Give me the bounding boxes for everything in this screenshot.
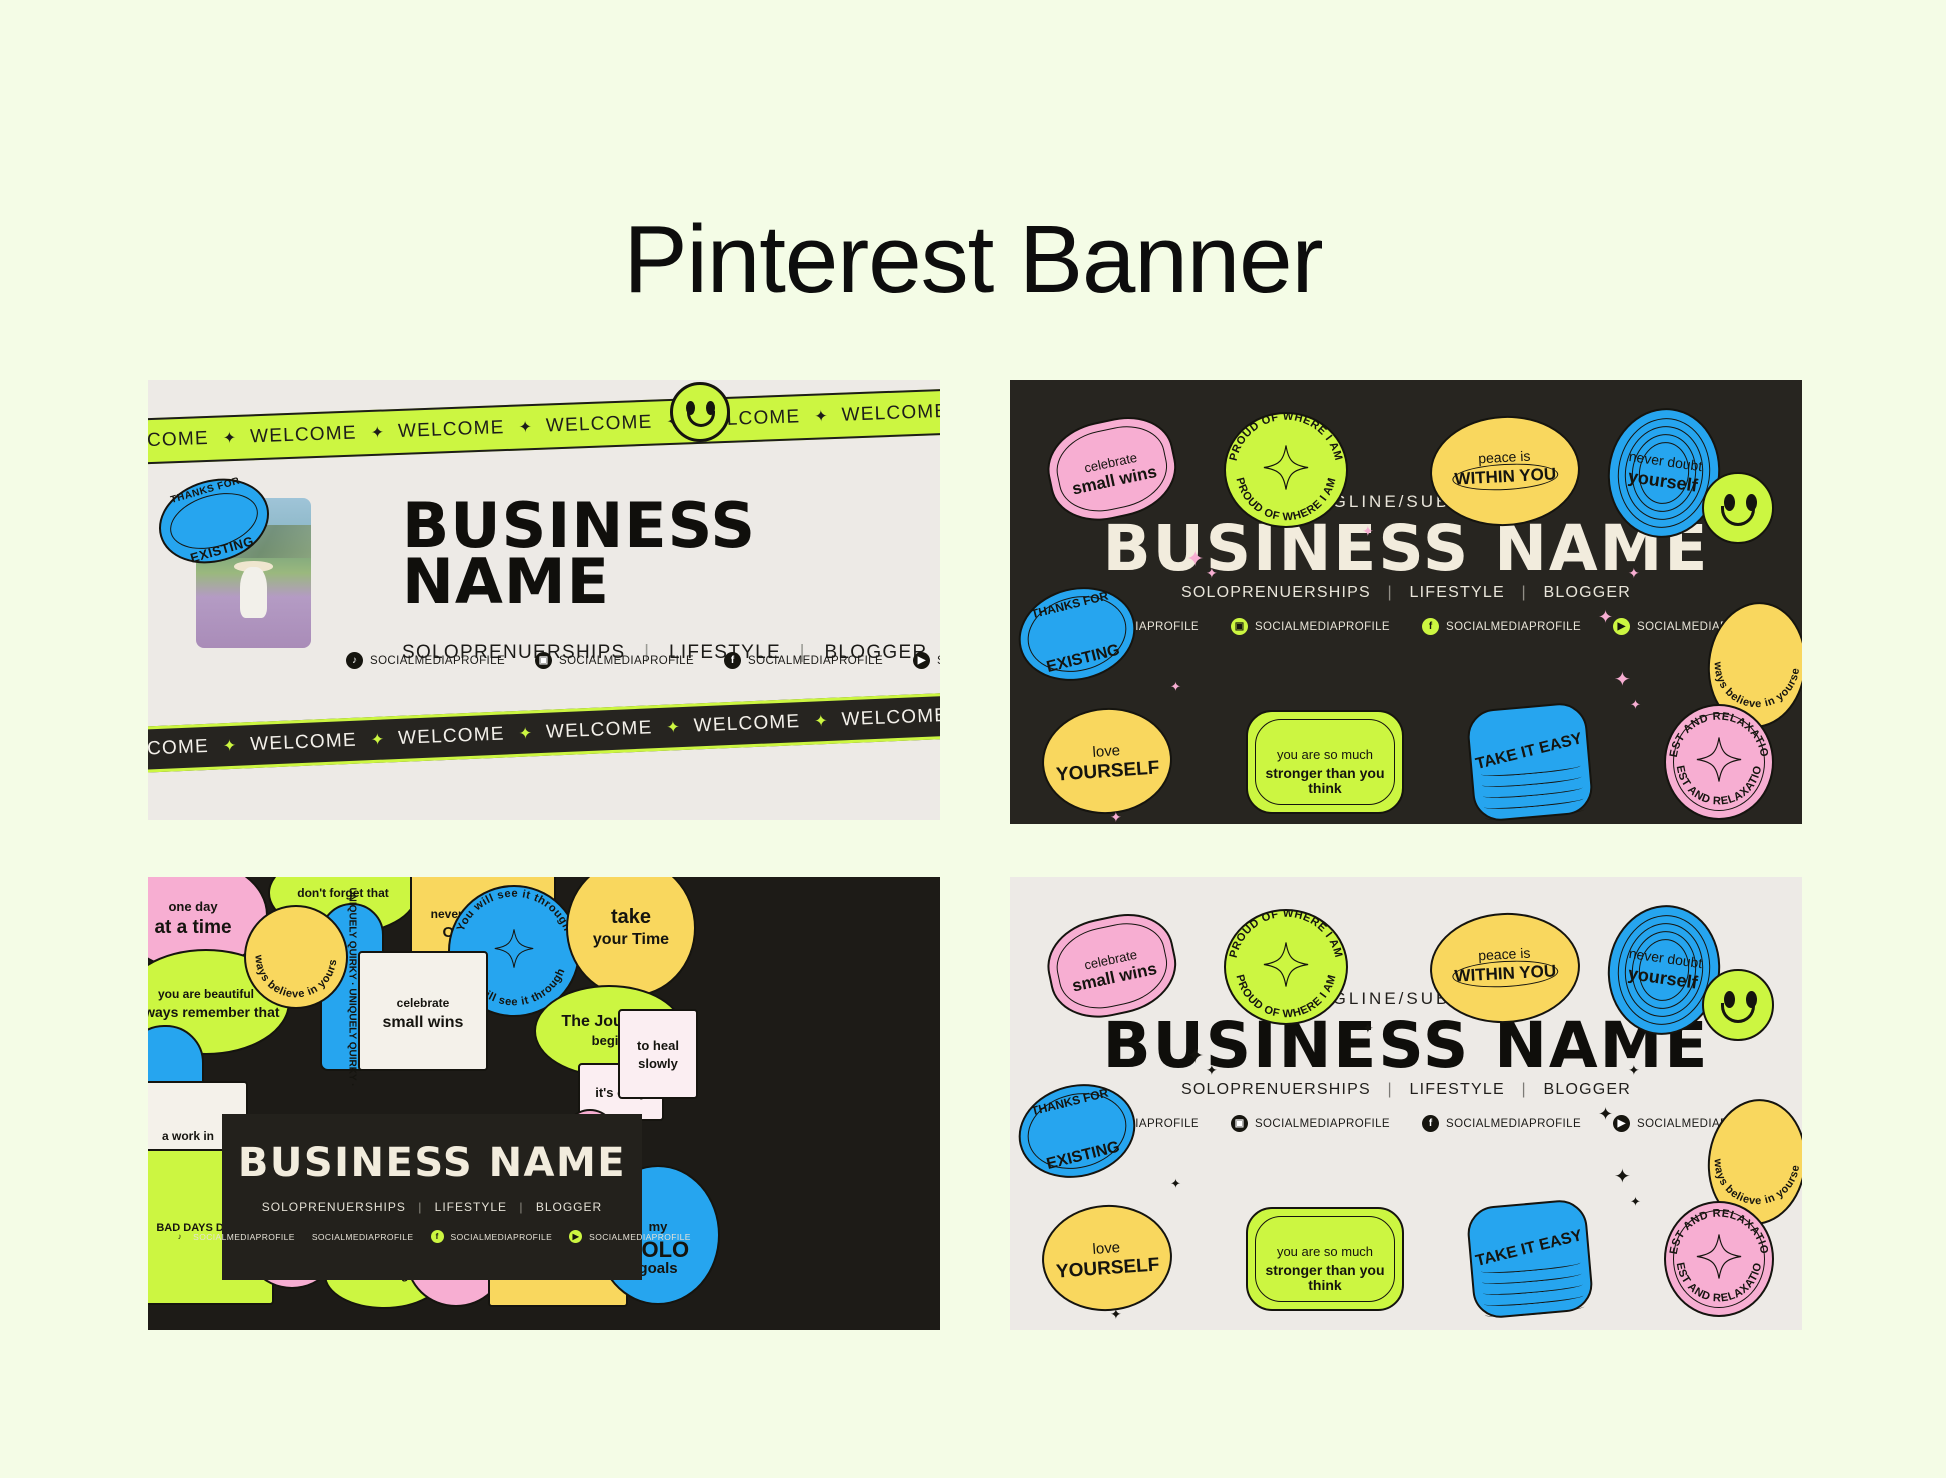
ribbon-word: WELCOME [679, 711, 814, 739]
sparkle-icon: ✦ [1362, 1021, 1374, 1035]
ribbon-word: WELCOME [532, 411, 667, 438]
collage-text-1: take [574, 906, 688, 928]
social-label: SOCIALMEDIAPROFILE [1255, 1118, 1390, 1130]
sparkle-icon: ✦ [814, 406, 828, 426]
tag-0: SOLOPRENUERSHIPS [262, 1200, 406, 1214]
ribbon-word: WELCOME [148, 427, 223, 454]
business-name-line-2: NAME [402, 554, 832, 610]
smiley-face-icon [670, 382, 730, 442]
facebook-icon: f [1422, 618, 1439, 635]
social-label: SOCIALMEDIAPROFILE [937, 655, 940, 667]
dark-sticker-banner[interactable]: TAGLINE/SUBTEXT BUSINESS NAME SOLOPRENUE… [1010, 380, 1802, 824]
business-name: BUSINESS NAME [222, 1140, 642, 1186]
tag-separator: | [1377, 584, 1404, 601]
social-links-row: ♪ SOCIALMEDIAPROFILE ▣ SOCIALMEDIAPROFIL… [346, 652, 940, 669]
sticker-love-yourself: loveYOURSELF [1038, 1201, 1175, 1316]
tag-list: SOLOPRENUERSHIPS | LIFESTYLE | BLOGGER [1010, 584, 1802, 602]
social-label: SOCIALMEDIAPROFILE [193, 1232, 295, 1242]
tag-1: LIFESTYLE [1410, 1081, 1505, 1098]
collage-text-1: celebrate [366, 997, 480, 1010]
tag-0: SOLOPRENUERSHIPS [1181, 1081, 1371, 1098]
business-name-card: BUSINESS NAME SOLOPRENUERSHIPS | LIFESTY… [222, 1114, 642, 1280]
youtube-icon: ▶ [1613, 1115, 1630, 1132]
social-link-facebook[interactable]: f SOCIALMEDIAPROFILE [1422, 618, 1581, 635]
welcome-ribbon-top: WELCOME✦WELCOME✦WELCOME✦WELCOME✦WELCOME✦… [148, 384, 940, 467]
social-links-row: ♪ SOCIALMEDIAPROFILE SOCIALMEDIAPROFILE … [222, 1230, 642, 1243]
sparkle-icon: ✦ [370, 730, 384, 751]
facebook-icon: f [724, 652, 741, 669]
tag-separator: | [511, 1200, 531, 1214]
sparkle-icon: ✦ [1614, 1167, 1631, 1187]
tag-list: SOLOPRENUERSHIPS | LIFESTYLE | BLOGGER [1010, 1081, 1802, 1099]
youtube-icon: ▶ [913, 652, 930, 669]
sparkle-icon: ✦ [1206, 566, 1218, 580]
collage-sticker-celebrate-small-wins-collage: celebratesmall wins [358, 951, 488, 1071]
sparkle-icon: ✦ [1170, 680, 1181, 693]
sparkle-icon: ✦ [1362, 524, 1374, 538]
business-name: BUSINESS NAME [402, 498, 832, 610]
social-label: SOCIALMEDIAPROFILE [589, 1232, 691, 1242]
social-link-instagram[interactable]: ▣ SOCIALMEDIAPROFILE [535, 652, 694, 669]
sparkle-icon: ✦ [1628, 1063, 1640, 1077]
youtube-icon: ▶ [569, 1230, 582, 1243]
sparkle-icon: ✦ [518, 723, 532, 744]
collage-text-1: one day [148, 900, 260, 914]
social-label: SOCIALMEDIAPROFILE [748, 655, 883, 667]
sticker-proud-of-where-i-am: PROUD OF WHERE I AMPROUD OF WHERE I AM [1224, 909, 1348, 1025]
tiktok-icon: ♪ [173, 1230, 186, 1243]
sticker-collage-banner[interactable]: one dayat a timedon't forget thatnever b… [148, 877, 940, 1330]
sticker-text-0: you are so much [1248, 1245, 1402, 1259]
sparkle-icon: ✦ [1206, 1063, 1218, 1077]
tag-0: SOLOPRENUERSHIPS [1181, 584, 1371, 601]
collage-text-2: at a time [148, 918, 262, 939]
light-sticker-banner[interactable]: TAGLINE/SUBTEXT BUSINESS NAME SOLOPRENUE… [1010, 877, 1802, 1330]
social-label: SOCIALMEDIAPROFILE [559, 655, 694, 667]
tiktok-icon: ♪ [346, 652, 363, 669]
collage-sticker-take-your-time: takeyour Time [566, 877, 696, 997]
social-link-instagram[interactable]: SOCIALMEDIAPROFILE [312, 1230, 414, 1243]
tag-2: BLOGGER [536, 1200, 602, 1214]
sticker-smiley-face [1702, 472, 1774, 544]
sparkle-icon: ✦ [1628, 566, 1640, 580]
social-label: SOCIALMEDIAPROFILE [1446, 1118, 1581, 1130]
sparkle-icon: ✦ [1598, 1105, 1613, 1123]
social-label: SOCIALMEDIAPROFILE [1255, 621, 1390, 633]
social-label: SOCIALMEDIAPROFILE [312, 1232, 414, 1242]
collage-text-2: small wins [364, 1014, 482, 1032]
svg-text:always believe in yourself: always believe in yourself [1704, 599, 1802, 714]
svg-text:always believe in yourself: always believe in yourself [246, 907, 339, 1000]
page-title: Pinterest Banner [0, 205, 1946, 315]
sparkle-icon: ✦ [370, 422, 384, 442]
tag-separator: | [1510, 584, 1537, 601]
instagram-icon: ▣ [535, 652, 552, 669]
tag-separator: | [1510, 1081, 1537, 1098]
facebook-icon: f [1422, 1115, 1439, 1132]
ribbon-word: WELCOME [827, 400, 940, 427]
sticker-text-1: stronger than you think [1248, 1263, 1402, 1292]
ribbon-word: WELCOME [532, 717, 667, 745]
sticker-take-it-easy: TAKE IT EASY [1465, 1198, 1594, 1320]
youtube-icon: ▶ [1613, 618, 1630, 635]
facebook-icon: f [431, 1230, 444, 1243]
svg-text:PROUD OF WHERE I AM: PROUD OF WHERE I AM [1233, 476, 1338, 523]
tag-2: BLOGGER [1544, 1081, 1632, 1098]
sticker-text-1: stronger than you think [1248, 766, 1402, 795]
sticker-text-0: you are so much [1248, 748, 1402, 762]
social-link-tiktok[interactable]: ♪ SOCIALMEDIAPROFILE [173, 1230, 295, 1243]
sparkle-icon: ✦ [1630, 1195, 1641, 1208]
tag-1: LIFESTYLE [1410, 584, 1505, 601]
sticker-stronger-than-you-think: you are so muchstronger than you think [1246, 710, 1404, 814]
svg-text:REST AND RELAXATION: REST AND RELAXATION [1666, 706, 1764, 808]
sparkle-icon: ✦ [1170, 1177, 1181, 1190]
social-link-youtube[interactable]: ▶ SOCIALMEDIAPROFILE [913, 652, 940, 669]
svg-text:PROUD OF WHERE I AM: PROUD OF WHERE I AM [1233, 973, 1338, 1020]
sparkle-icon: ✦ [1614, 670, 1631, 690]
svg-text:always believe in yourself: always believe in yourself [1704, 1096, 1802, 1211]
social-link-facebook[interactable]: f SOCIALMEDIAPROFILE [1422, 1115, 1581, 1132]
sparkle-icon: ✦ [222, 428, 236, 448]
sticker-love-yourself: loveYOURSELF [1038, 704, 1175, 819]
social-label: SOCIALMEDIAPROFILE [451, 1232, 553, 1242]
sticker-proud-of-where-i-am: PROUD OF WHERE I AMPROUD OF WHERE I AM [1224, 412, 1348, 528]
sparkle-icon: ✦ [1186, 1045, 1204, 1067]
ribbon-word: WELCOME [236, 729, 371, 757]
sparkle-icon: ✦ [666, 717, 680, 738]
svg-text:REST AND RELAXATION: REST AND RELAXATION [1666, 1203, 1764, 1305]
social-link-instagram[interactable]: ▣ SOCIALMEDIAPROFILE [1231, 1115, 1390, 1132]
social-label: SOCIALMEDIAPROFILE [1446, 621, 1581, 633]
sticker-take-it-easy: TAKE IT EASY [1465, 701, 1594, 823]
instagram-icon: ▣ [1231, 1115, 1248, 1132]
ribbon-word: WELCOME [148, 735, 223, 763]
collage-sticker-always-believe-in-yourself-collage: always believe in yourself [244, 905, 348, 1009]
sparkle-icon: ✦ [814, 711, 828, 732]
instagram-icon: ▣ [1231, 618, 1248, 635]
sticker-rest-and-relaxation: REST AND RELAXATIONREST AND RELAXATION [1664, 1201, 1774, 1317]
sparkle-icon: ✦ [1598, 608, 1613, 626]
sparkle-icon: ✦ [1110, 1307, 1122, 1321]
collage-text-1: don't forget that [276, 887, 410, 900]
collage-sticker-to-heal-slowly: to healslowly [618, 1009, 698, 1099]
collage-text-2: slowly [624, 1057, 692, 1071]
tag-1: LIFESTYLE [435, 1200, 507, 1214]
sparkle-icon: ✦ [1186, 548, 1204, 570]
sparkle-icon: ✦ [1110, 810, 1122, 824]
ribbon-word: WELCOME [827, 704, 940, 732]
social-link-tiktok[interactable]: ♪ SOCIALMEDIAPROFILE [346, 652, 505, 669]
ribbon-word: WELCOME [384, 417, 519, 444]
tag-list: SOLOPRENUERSHIPS | LIFESTYLE | BLOGGER [222, 1200, 642, 1214]
sticker-stronger-than-you-think: you are so muchstronger than you think [1246, 1207, 1404, 1311]
sparkle-icon: ✦ [222, 736, 236, 757]
ribbon-word: WELCOME [236, 422, 371, 449]
welcome-ribbon-bottom: WELCOME✦WELCOME✦WELCOME✦WELCOME✦WELCOME✦… [148, 687, 940, 775]
tag-2: BLOGGER [1544, 584, 1632, 601]
social-link-youtube[interactable]: ▶ SOCIALMEDIAPROFILE [569, 1230, 691, 1243]
social-link-facebook[interactable]: f SOCIALMEDIAPROFILE [431, 1230, 553, 1243]
ribbon-word: WELCOME [384, 723, 519, 751]
tag-separator: | [410, 1200, 430, 1214]
collage-text-2: always remember that [148, 1005, 284, 1020]
social-link-instagram[interactable]: ▣ SOCIALMEDIAPROFILE [1231, 618, 1390, 635]
sticker-rest-and-relaxation: REST AND RELAXATIONREST AND RELAXATION [1664, 704, 1774, 820]
social-link-facebook[interactable]: f SOCIALMEDIAPROFILE [724, 652, 883, 669]
collage-text-2: your Time [572, 931, 690, 949]
sticker-smiley-face [1702, 969, 1774, 1041]
collage-text-1: to heal [626, 1039, 690, 1053]
sparkle-icon: ✦ [518, 417, 532, 437]
tag-separator: | [1377, 1081, 1404, 1098]
welcome-ribbon-banner[interactable]: WELCOME✦WELCOME✦WELCOME✦WELCOME✦WELCOME✦… [148, 380, 940, 820]
sparkle-icon: ✦ [1630, 698, 1641, 711]
social-label: SOCIALMEDIAPROFILE [370, 655, 505, 667]
